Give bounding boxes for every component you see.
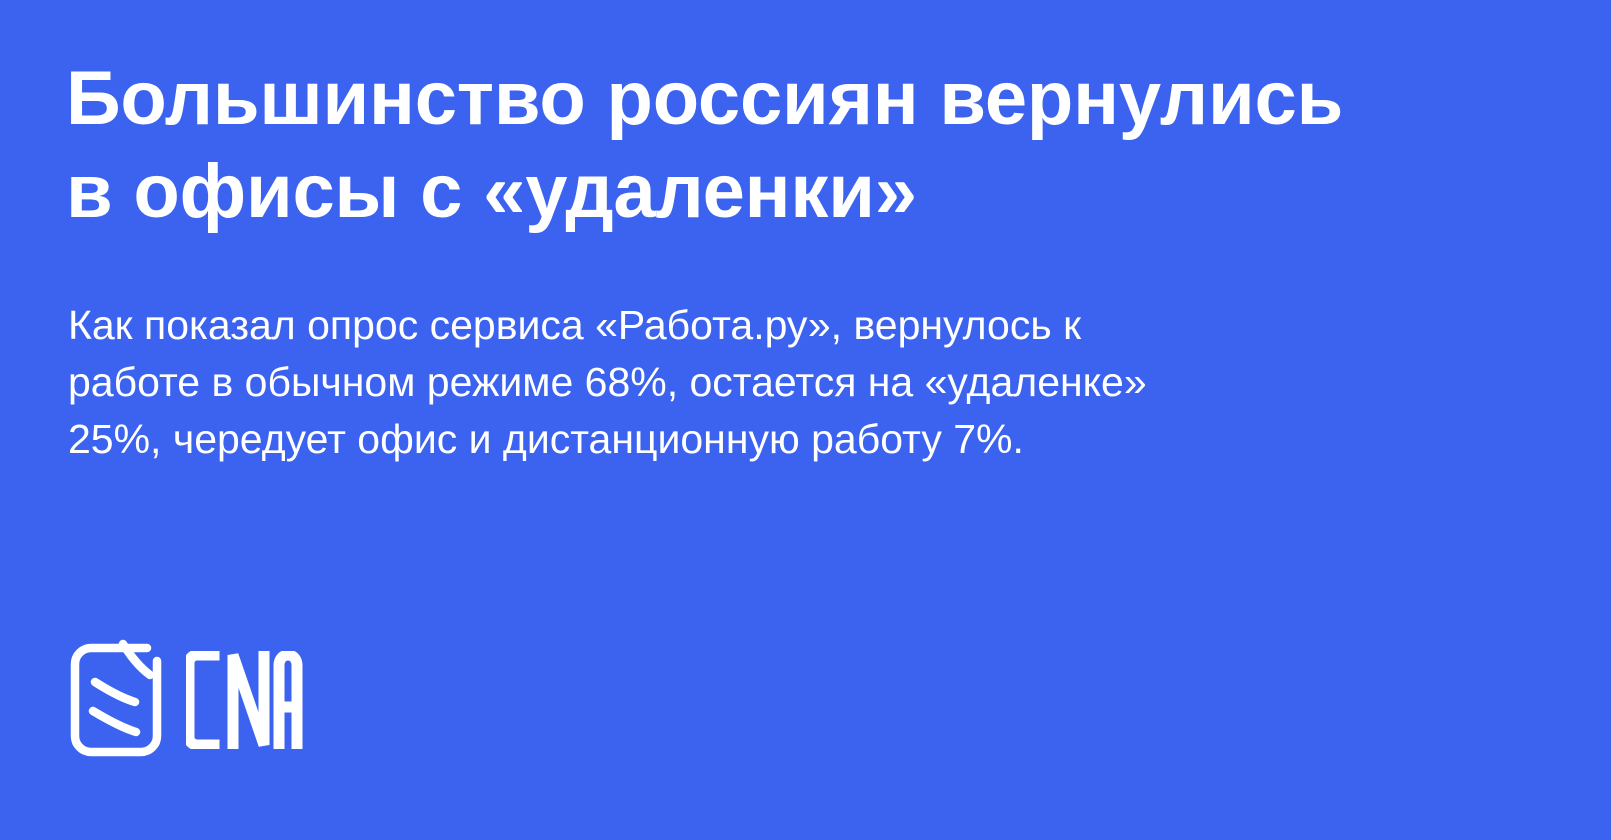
sia-logo[interactable] — [68, 625, 304, 775]
sia-square-swoosh-icon — [68, 639, 164, 761]
sia-wordmark-wrap — [164, 651, 304, 749]
card-content: Большинство россиян вернулись в офисы с … — [66, 0, 1536, 840]
lede-paragraph: Как показал опрос сервиса «Работа.ру», в… — [68, 297, 1493, 468]
sia-wordmark-icon — [186, 651, 304, 749]
news-card: Большинство россиян вернулись в офисы с … — [0, 0, 1611, 840]
sia-mark-wrap — [68, 639, 164, 761]
headline: Большинство россиян вернулись в офисы с … — [66, 52, 1506, 238]
